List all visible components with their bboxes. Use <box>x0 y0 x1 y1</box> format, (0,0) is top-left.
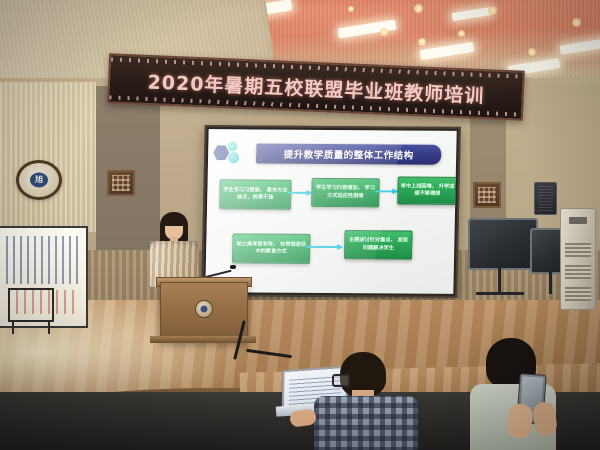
projection-screen-frame: 提升教学质量的整体工作结构 学生学习习惯差， 基本方法缺乏，效果不佳 学生学习内… <box>201 125 461 298</box>
wall-plaque <box>473 182 501 208</box>
ceiling-spotlight <box>528 48 536 56</box>
ceiling-spotlight <box>414 4 423 13</box>
slide-arrow <box>306 246 338 248</box>
wall-plaque <box>107 170 135 196</box>
eyeglasses-icon <box>332 374 350 387</box>
audience-member-laptop <box>300 352 430 450</box>
monitor-stand-foot <box>476 292 524 295</box>
monitor-stand <box>549 270 552 294</box>
ceiling-spotlight <box>458 30 465 37</box>
ac-display <box>569 217 587 224</box>
circle-accent-icon <box>227 141 237 151</box>
air-conditioner <box>560 208 596 310</box>
photo-scene: 旭 2020年暑期五校联盟毕业班教师培训 提升教学质量的整体工作结构 学生学习习… <box>0 0 600 450</box>
school-emblem-icon: 旭 <box>16 160 62 200</box>
audience-member-phone <box>470 338 590 450</box>
monitor-stand <box>498 266 501 294</box>
ceiling-spotlight <box>348 6 354 12</box>
folding-chair <box>8 288 54 322</box>
lectern <box>160 282 248 342</box>
slide-node: 学生学习习惯差， 基本方法缺乏，效果不佳 <box>219 179 292 209</box>
slide-arrow <box>287 192 307 194</box>
slide-title: 提升教学质量的整体工作结构 <box>256 143 441 164</box>
ceiling-spotlight <box>418 38 426 46</box>
ac-vent <box>565 287 591 301</box>
attendee-plaid-shirt <box>314 396 418 450</box>
school-emblem-glyph: 旭 <box>35 176 43 184</box>
slide-decoration <box>213 141 254 167</box>
ceiling-spotlight <box>488 6 497 15</box>
left-wall-panel <box>0 82 96 232</box>
ac-vent <box>565 243 591 257</box>
ac-vent <box>565 265 591 279</box>
circle-accent-icon <box>228 152 239 163</box>
lectern-crest-icon <box>195 300 213 318</box>
slide-node: 学生学习内容增加， 学习方式适应性困难 <box>311 178 380 207</box>
projection-screen: 提升教学质量的整体工作结构 学生学习习惯差， 基本方法缺乏，效果不佳 学生学习内… <box>205 129 456 294</box>
ceiling-spotlight <box>380 28 388 36</box>
wall-speaker <box>534 182 557 215</box>
ceiling-spotlight <box>572 18 581 27</box>
presenter-fringe <box>163 216 185 226</box>
slide-node: 考中上线困难， 升学成绩不够理想 <box>397 176 457 204</box>
slide-node: 助力高考更有效， 在常规途径中的教育方式 <box>232 233 311 264</box>
display-monitor <box>468 218 538 270</box>
slide-node: 主题研讨针对重点， 发现问题解决学生 <box>344 230 413 259</box>
slide-arrow <box>375 190 393 192</box>
